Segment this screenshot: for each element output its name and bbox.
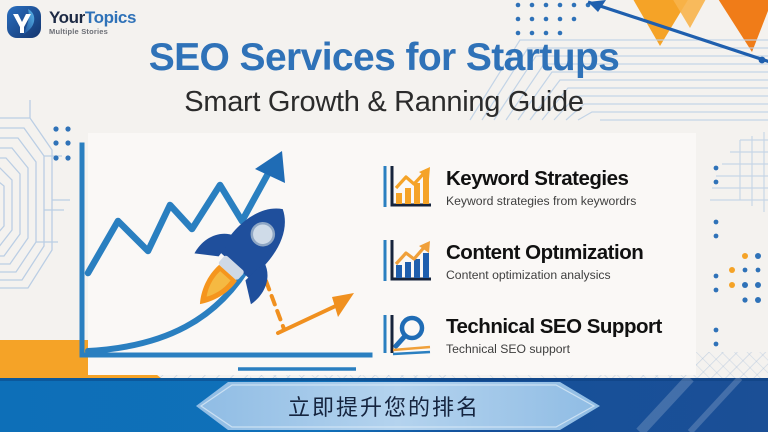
dot-grid-icon bbox=[516, 3, 591, 36]
feature-title: Content Optımization bbox=[446, 242, 643, 265]
y-swoosh-logo-icon bbox=[6, 3, 44, 41]
rocket-icon bbox=[171, 184, 314, 330]
logo-name-part2: Topics bbox=[85, 8, 136, 27]
slide-canvas: YourTopics Multiple Stories SEO Services… bbox=[0, 0, 768, 432]
feature-item-keyword-strategies[interactable]: Keyword Strategies Keyword strategies fr… bbox=[383, 150, 723, 224]
banner-headline: 立即提升您的排名 bbox=[0, 390, 768, 422]
feature-title: Keyword Strategies bbox=[446, 168, 636, 191]
dot-grid-icon bbox=[53, 126, 70, 160]
growth-chart-rocket-illustration bbox=[70, 133, 390, 378]
feature-item-content-optimization[interactable]: Content Optımization Content optimizatio… bbox=[383, 224, 723, 298]
trend-arrow-head-icon bbox=[255, 151, 285, 183]
page-subtitle: Smart Growth & Ranning Guide bbox=[0, 86, 768, 119]
logo-name-part1: Your bbox=[49, 8, 85, 27]
page-title: SEO Services for Startups bbox=[0, 36, 768, 80]
feature-title: Technical SEO Support bbox=[446, 316, 662, 339]
circuit-maze-pattern-icon bbox=[0, 100, 70, 288]
feature-subtitle: Keyword strategies from keywordrs bbox=[446, 194, 636, 208]
brand-logo[interactable]: YourTopics Multiple Stories bbox=[6, 3, 136, 41]
dot-grid-icon bbox=[729, 253, 761, 303]
bar-chart-analytics-icon bbox=[383, 237, 433, 285]
feature-subtitle: Content optimization analysics bbox=[446, 268, 643, 282]
dashed-orange-arrow-icon bbox=[266, 281, 342, 333]
feature-text-block: Content Optımization Content optimizatio… bbox=[446, 240, 643, 282]
feature-text-block: Keyword Strategies Keyword strategies fr… bbox=[446, 166, 636, 208]
feature-subtitle: Technical SEO support bbox=[446, 342, 662, 356]
bar-chart-growth-icon bbox=[383, 163, 433, 211]
feature-list: Keyword Strategies Keyword strategies fr… bbox=[383, 150, 723, 372]
dashed-arrow-head-icon bbox=[332, 293, 354, 317]
feature-item-technical-seo-support[interactable]: Technical SEO Support Technical SEO supp… bbox=[383, 298, 723, 372]
feature-text-block: Technical SEO Support Technical SEO supp… bbox=[446, 314, 662, 356]
bottom-banner: 立即提升您的排名 bbox=[0, 378, 768, 432]
magnifying-glass-icon bbox=[383, 311, 433, 359]
logo-tagline: Multiple Stories bbox=[49, 28, 136, 36]
brand-logo-text: YourTopics Multiple Stories bbox=[49, 8, 136, 36]
